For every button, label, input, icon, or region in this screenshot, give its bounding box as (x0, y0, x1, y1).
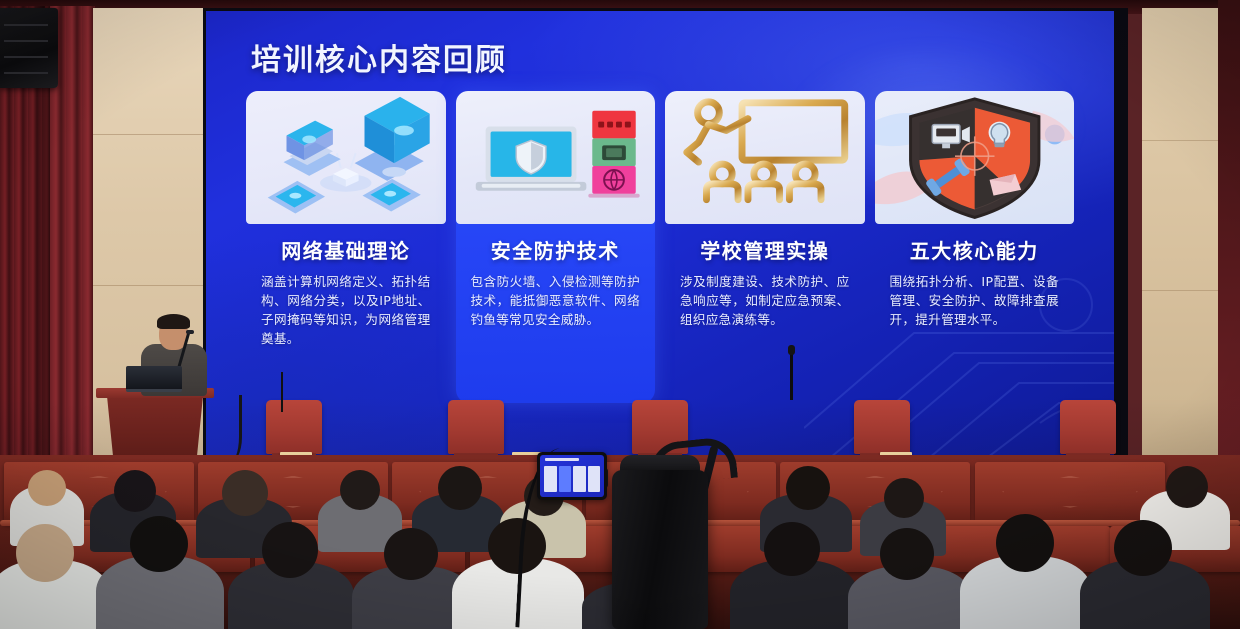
audience-member-head (16, 524, 74, 582)
slide-card-five-core-abilities[interactable]: 五大核心能力 围绕拓扑分析、IP配置、设备管理、安全防护、故障排查展开，提升管理… (875, 91, 1075, 403)
audience-member-head (130, 516, 188, 572)
audience-member-head (384, 528, 438, 580)
audience-bench (975, 462, 1165, 524)
camera-lcd-screen (540, 455, 604, 497)
audience-member-head (880, 528, 934, 580)
slide-card-body: 涉及制度建设、技术防护、应急响应等，如制定应急预案、组织应急演练等。 (680, 272, 850, 329)
stage-chair (266, 400, 322, 454)
slide-card-body: 涵盖计算机网络定义、拓扑结构、网络分类，以及IP地址、子网掩码等知识，为网络管理… (261, 272, 431, 349)
slide-card-title: 五大核心能力 (875, 235, 1075, 264)
audience-member-head (764, 522, 820, 576)
slide-card-row: 网络基础理论 涵盖计算机网络定义、拓扑结构、网络分类，以及IP地址、子网掩码等知… (246, 91, 1074, 403)
stage-chair (448, 400, 504, 454)
lcd-slide-cards (544, 466, 600, 492)
audience-member-head (996, 514, 1054, 572)
slide-card-network-basics[interactable]: 网络基础理论 涵盖计算机网络定义、拓扑结构、网络分类，以及IP地址、子网掩码等知… (246, 91, 446, 403)
audience-member-head (786, 466, 830, 510)
gold-teacher-classroom-icon (665, 91, 865, 224)
lcd-card (573, 466, 586, 492)
slide-title: 培训核心内容回顾 (251, 35, 507, 79)
slide-card-body: 围绕拓扑分析、IP配置、设备管理、安全防护、故障排查展开，提升管理水平。 (890, 272, 1060, 329)
lcd-card (588, 466, 601, 492)
slide-card-security-protection[interactable]: 安全防护技术 包含防火墙、入侵检测等防护技术，能抵御恶意软件、网络钓鱼等常见安全… (456, 91, 656, 403)
slide-card-body: 包含防火墙、入侵检测等防护技术，能抵御恶意软件、网络钓鱼等常见安全威胁。 (471, 272, 641, 329)
slide-card-title: 网络基础理论 (246, 235, 446, 264)
stage-microphone (790, 352, 793, 400)
stage-chair (1060, 400, 1116, 454)
lcd-card (559, 466, 572, 492)
audience-member-head (114, 470, 156, 512)
lcd-card (544, 466, 557, 492)
shield-four-quadrant-icon (875, 91, 1075, 224)
audience-member-head (340, 470, 380, 510)
audience-member-head (1166, 466, 1208, 508)
podium-laptop[interactable] (126, 366, 182, 392)
camera-lcd-monitor[interactable] (537, 452, 607, 500)
slide-card-title: 学校管理实操 (665, 235, 865, 264)
presenter-microphone-capsule (186, 330, 194, 334)
line-array-loudspeaker (0, 8, 58, 88)
lcd-slide-title-bar (545, 458, 579, 461)
audience-member-head (28, 470, 66, 506)
audience-member-head (884, 478, 924, 518)
auditorium-presentation-scene: 培训核心内容回顾 (0, 0, 1240, 629)
isometric-network-devices-icon (246, 91, 446, 224)
slide-card-school-management[interactable]: 学校管理实操 涉及制度建设、技术防护、应急响应等，如制定应急预案、组织应急演练等… (665, 91, 865, 403)
stage-microphone (281, 372, 283, 412)
audience-member-head (262, 522, 318, 578)
audience-member-head (222, 470, 268, 516)
laptop-shield-firewall-icon (456, 91, 656, 224)
audience-member-head (438, 466, 482, 510)
presenter-hair (157, 314, 190, 329)
stage-chair (854, 400, 910, 454)
video-camera[interactable] (612, 470, 708, 629)
audience-member-head (1114, 520, 1172, 576)
slide-card-title: 安全防护技术 (456, 235, 656, 264)
